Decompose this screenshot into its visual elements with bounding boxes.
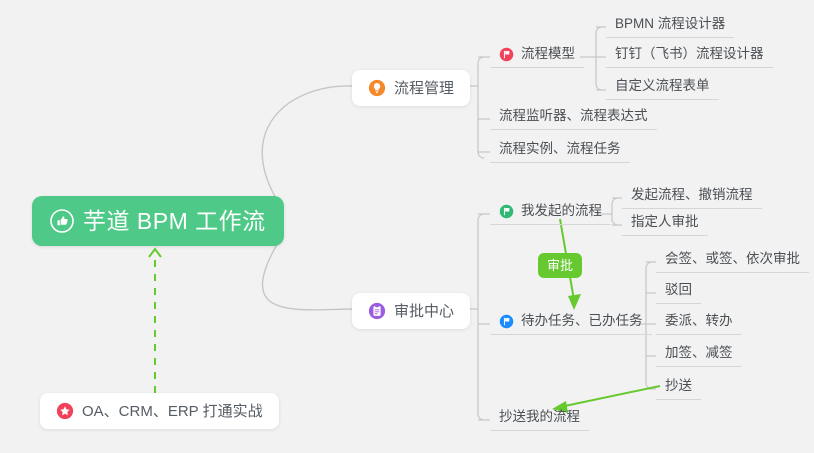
connector-approval-center-spine bbox=[478, 214, 484, 420]
node-label-my-initiated: 我发起的流程 bbox=[521, 204, 602, 219]
node-label-dingtalk-designer: 钉钉（飞书）流程设计器 bbox=[615, 47, 764, 62]
node-label-add-remove-sign: 加签、减签 bbox=[665, 346, 733, 361]
flag-icon bbox=[499, 314, 514, 329]
branch-node-approval-center[interactable]: 审批中心 bbox=[352, 293, 470, 329]
node-label-cc: 抄送 bbox=[665, 379, 692, 394]
node-delegate-transfer[interactable]: 委派、转办 bbox=[656, 311, 742, 335]
node-label-delegate-transfer: 委派、转办 bbox=[665, 314, 733, 329]
node-cc-to-me[interactable]: 抄送我的流程 bbox=[490, 407, 589, 431]
node-bpmn-designer[interactable]: BPMN 流程设计器 bbox=[606, 14, 734, 38]
node-label-instance-task: 流程实例、流程任务 bbox=[499, 142, 621, 157]
approval-flow-arrowhead bbox=[568, 294, 581, 310]
node-dingtalk-designer[interactable]: 钉钉（飞书）流程设计器 bbox=[606, 44, 773, 68]
node-label-bpmn-designer: BPMN 流程设计器 bbox=[615, 17, 725, 32]
node-label-todo-done: 待办任务、已办任务 bbox=[521, 314, 643, 329]
mindmap-canvas: 芋道 BPM 工作流 流程管理 流程模型 BPMN 流程设计器 钉钉（飞书 bbox=[0, 0, 814, 453]
clipboard-icon bbox=[368, 302, 386, 320]
floating-node-integration-practice[interactable]: OA、CRM、ERP 打通实战 bbox=[40, 393, 279, 429]
node-custom-form[interactable]: 自定义流程表单 bbox=[606, 76, 719, 100]
node-assignee-approval[interactable]: 指定人审批 bbox=[622, 212, 708, 236]
cc-link-arrow-line bbox=[560, 386, 660, 407]
root-label: 芋道 BPM 工作流 bbox=[83, 210, 266, 233]
node-my-initiated[interactable]: 我发起的流程 bbox=[490, 201, 611, 225]
node-label-listener-expression: 流程监听器、流程表达式 bbox=[499, 109, 648, 124]
node-label-start-cancel-process: 发起流程、撤销流程 bbox=[631, 188, 753, 203]
star-icon bbox=[56, 402, 74, 420]
flag-icon bbox=[499, 47, 514, 62]
approval-badge[interactable]: 审批 bbox=[538, 253, 582, 278]
node-cc[interactable]: 抄送 bbox=[656, 376, 701, 400]
node-listener-expression[interactable]: 流程监听器、流程表达式 bbox=[490, 106, 657, 130]
node-label-assignee-approval: 指定人审批 bbox=[631, 215, 699, 230]
node-label-cc-to-me: 抄送我的流程 bbox=[499, 410, 580, 425]
node-reject[interactable]: 驳回 bbox=[656, 280, 701, 304]
node-label-reject: 驳回 bbox=[665, 283, 692, 298]
floating-node-label-integration-practice: OA、CRM、ERP 打通实战 bbox=[82, 404, 263, 419]
thumbs-up-icon bbox=[50, 209, 74, 233]
node-instance-task[interactable]: 流程实例、流程任务 bbox=[490, 139, 630, 163]
integration-arrowhead bbox=[149, 249, 161, 257]
node-countersign[interactable]: 会签、或签、依次审批 bbox=[656, 249, 809, 273]
node-label-countersign: 会签、或签、依次审批 bbox=[665, 252, 800, 267]
node-todo-done[interactable]: 待办任务、已办任务 bbox=[490, 311, 652, 335]
root-node[interactable]: 芋道 BPM 工作流 bbox=[32, 196, 284, 246]
node-add-remove-sign[interactable]: 加签、减签 bbox=[656, 343, 742, 367]
branch-label-approval-center: 审批中心 bbox=[394, 304, 454, 319]
connector-process-model-spine bbox=[596, 27, 602, 90]
connector-my-initiated-spine bbox=[612, 198, 618, 225]
connector-process-management-spine bbox=[478, 57, 484, 158]
branch-node-process-management[interactable]: 流程管理 bbox=[352, 70, 470, 106]
connector-root-to-process-management bbox=[262, 86, 352, 208]
node-process-model[interactable]: 流程模型 bbox=[490, 44, 584, 68]
node-label-custom-form: 自定义流程表单 bbox=[615, 79, 710, 94]
node-label-process-model: 流程模型 bbox=[521, 47, 575, 62]
connector-root-to-approval-center bbox=[263, 236, 352, 310]
lightbulb-icon bbox=[368, 79, 386, 97]
flag-icon bbox=[499, 204, 514, 219]
branch-label-process-management: 流程管理 bbox=[394, 81, 454, 96]
node-start-cancel-process[interactable]: 发起流程、撤销流程 bbox=[622, 185, 762, 209]
